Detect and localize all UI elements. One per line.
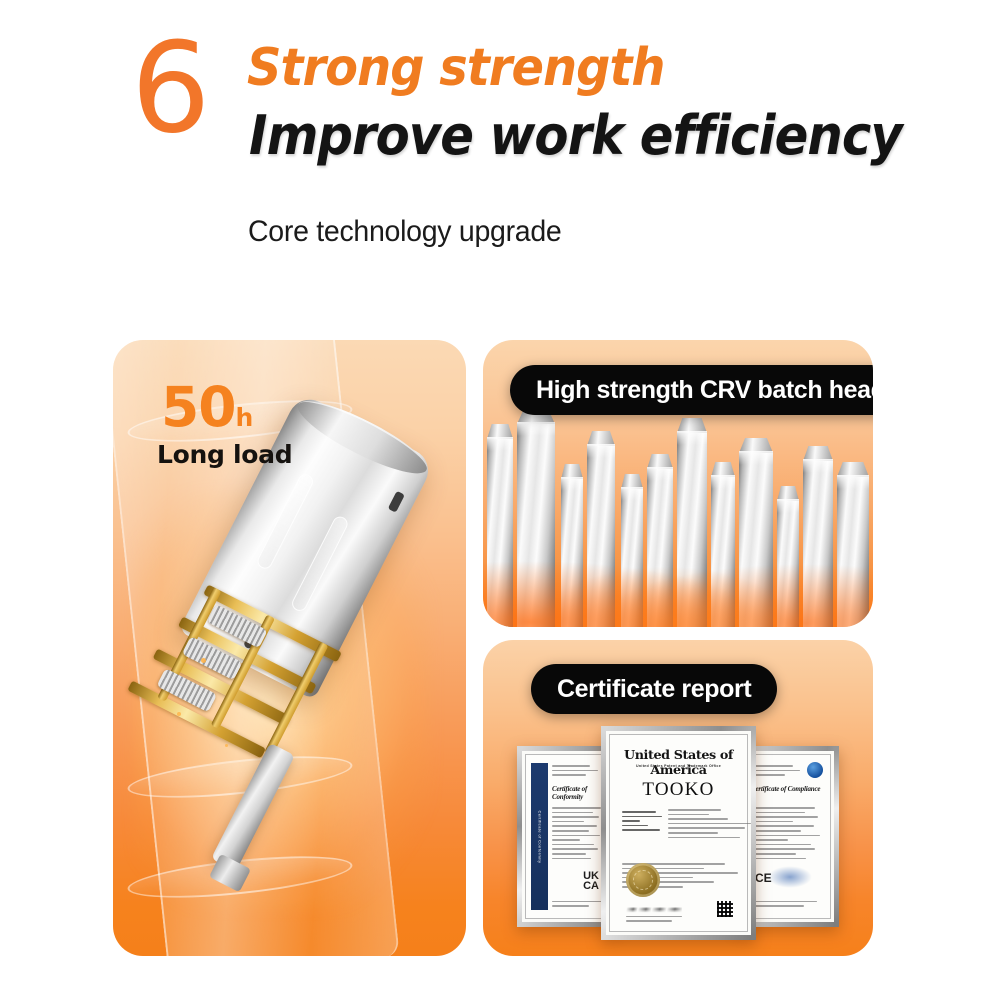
motor-slot xyxy=(255,472,316,571)
usa-title: United States of America xyxy=(615,747,743,777)
compliance-logo-icon xyxy=(807,762,823,778)
bits-label-text: High strength CRV batch head xyxy=(536,376,873,405)
qr-code-icon xyxy=(717,901,733,917)
trademark-field-values xyxy=(668,809,754,841)
headline-secondary: Improve work efficiency xyxy=(249,104,902,167)
header: 6 Strong strength Improve work efficienc… xyxy=(0,0,1000,300)
headline-primary: Strong strength xyxy=(247,38,665,98)
certificate-group: Certificate of Conformity Certificate of… xyxy=(483,724,873,956)
stat-value: 50 xyxy=(161,375,236,439)
stat-caption: Long load xyxy=(157,440,292,469)
signature xyxy=(626,904,682,915)
section-number: 6 xyxy=(131,26,209,151)
motor-vent xyxy=(388,491,405,513)
certificate-trademark: United States of America United States P… xyxy=(601,726,756,940)
embossed-seal-icon xyxy=(626,863,660,897)
bit-row xyxy=(483,412,873,627)
trademark-field-labels xyxy=(622,811,662,834)
conformity-sidebar-text: Certificate of Conformity xyxy=(537,810,542,863)
signature-caption xyxy=(626,916,688,925)
certificate-label[interactable]: Certificate report xyxy=(531,664,777,714)
subtitle: Core technology upgrade xyxy=(248,215,562,249)
ukca-mark-icon: UKCA xyxy=(583,872,599,892)
trademark-brand: TOOKO xyxy=(610,779,747,801)
compliance-heading: Certificate of Compliance xyxy=(751,785,824,793)
conformity-sidebar: Certificate of Conformity xyxy=(531,763,548,910)
motor-slot xyxy=(290,514,351,613)
stat-unit: h xyxy=(236,403,253,432)
product-feature-page: 6 Strong strength Improve work efficienc… xyxy=(0,0,1000,1000)
fcc-mark-icon xyxy=(768,866,812,888)
bits-label[interactable]: High strength CRV batch head xyxy=(510,365,873,415)
motor-panel: 50h Long load New upgrade Powerful machi… xyxy=(113,340,466,956)
certificate-label-text: Certificate report xyxy=(557,675,751,704)
motor-end-cap xyxy=(291,389,435,485)
certificate-panel: Certificate of Conformity Certificate of… xyxy=(483,640,873,956)
long-load-stat: 50h xyxy=(161,380,252,435)
usa-office-line: United States Patent and Trademark Offic… xyxy=(620,764,737,768)
bits-panel: High strength CRV batch head xyxy=(483,340,873,627)
